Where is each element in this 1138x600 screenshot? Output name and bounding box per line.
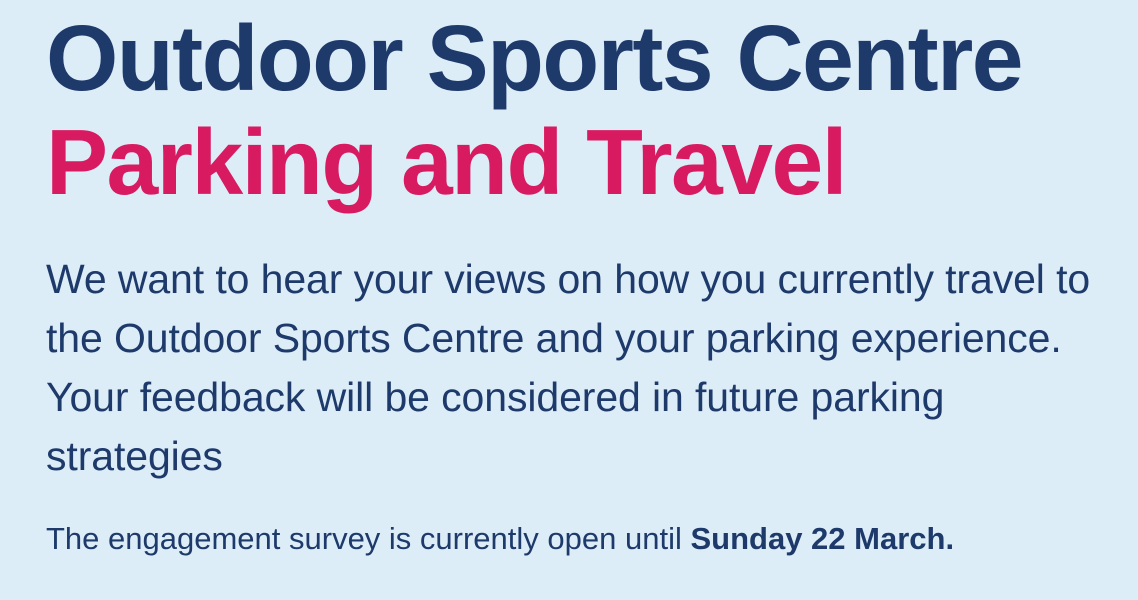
page-title-primary: Outdoor Sports Centre (46, 6, 1118, 110)
survey-deadline-lead-text: The engagement survey is currently open … (46, 521, 690, 556)
parking-travel-banner: Outdoor Sports Centre Parking and Travel… (0, 0, 1138, 600)
intro-paragraph: We want to hear your views on how you cu… (46, 214, 1118, 486)
survey-deadline-note: The engagement survey is currently open … (46, 486, 1118, 559)
page-title-secondary: Parking and Travel (46, 110, 1118, 214)
banner-heading-group: Outdoor Sports Centre Parking and Travel (46, 0, 1118, 214)
survey-deadline-date: Sunday 22 March. (690, 521, 954, 556)
